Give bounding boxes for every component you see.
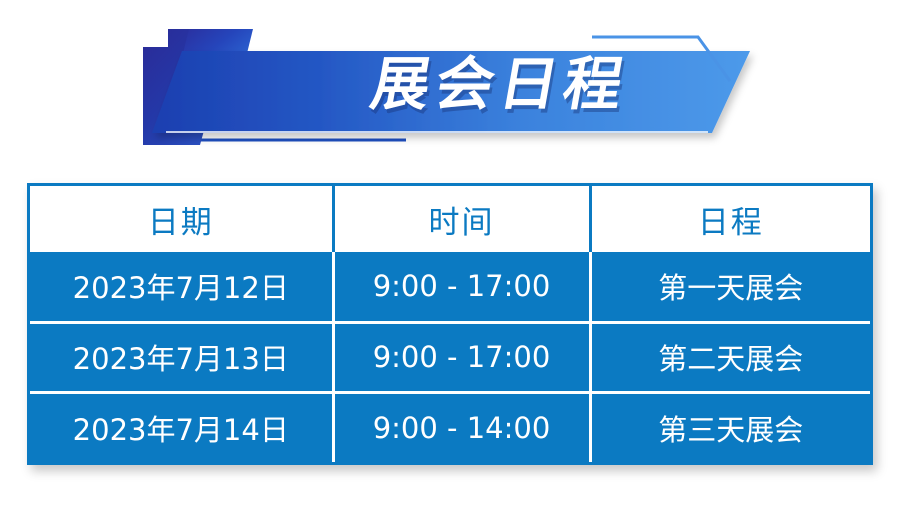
column-header-date: 日期 (30, 186, 333, 252)
column-header-agenda: 日程 (590, 186, 870, 252)
schedule-table-element: 日期 时间 日程 2023年7月12日 9:00 - 17:00 第一天展会 2… (30, 186, 870, 462)
cell-agenda: 第三天展会 (590, 392, 870, 462)
table-row: 2023年7月13日 9:00 - 17:00 第二天展会 (30, 322, 870, 392)
cell-time: 9:00 - 17:00 (333, 322, 590, 392)
banner: 展会日程 (0, 0, 900, 175)
table-row: 2023年7月14日 9:00 - 14:00 第三天展会 (30, 392, 870, 462)
table-body: 2023年7月12日 9:00 - 17:00 第一天展会 2023年7月13日… (30, 252, 870, 462)
cell-time: 9:00 - 14:00 (333, 392, 590, 462)
schedule-table: 日期 时间 日程 2023年7月12日 9:00 - 17:00 第一天展会 2… (27, 183, 873, 465)
table-header: 日期 时间 日程 (30, 186, 870, 252)
table-header-row: 日期 时间 日程 (30, 186, 870, 252)
cell-time: 9:00 - 17:00 (333, 252, 590, 322)
column-header-time: 时间 (333, 186, 590, 252)
table-row: 2023年7月12日 9:00 - 17:00 第一天展会 (30, 252, 870, 322)
cell-agenda: 第二天展会 (590, 322, 870, 392)
cell-date: 2023年7月12日 (30, 252, 333, 322)
cell-date: 2023年7月13日 (30, 322, 333, 392)
banner-main-body (152, 51, 750, 133)
cell-date: 2023年7月14日 (30, 392, 333, 462)
cell-agenda: 第一天展会 (590, 252, 870, 322)
banner-graphic (0, 0, 900, 175)
